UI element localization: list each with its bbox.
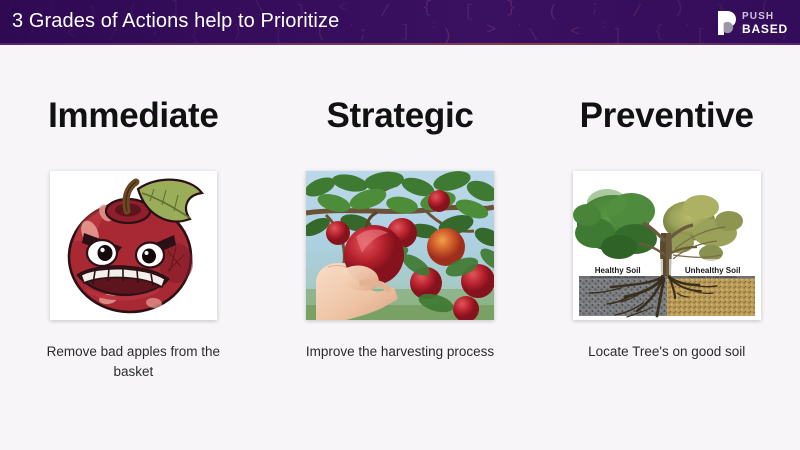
column-preventive: Preventive	[533, 45, 800, 450]
column-strategic: Strategic	[267, 45, 534, 450]
column-title-immediate: Immediate	[48, 98, 218, 133]
svg-text:>: >	[486, 21, 496, 40]
slide: { ) [ < } / ( ; ] { > ) \ [ } ( < ; / ]	[0, 0, 800, 450]
grades-columns: Immediate	[0, 45, 800, 450]
healthy-vs-unhealthy-soil-tree-diagram-icon: Healthy Soil (Not Compacted, Moist, Lots…	[573, 171, 761, 320]
svg-text:;: ;	[590, 0, 600, 18]
svg-text:}: }	[506, 0, 516, 18]
svg-text:/: /	[380, 3, 390, 22]
svg-text:.: .	[684, 16, 691, 30]
svg-text:.: .	[516, 16, 523, 30]
svg-text:): )	[674, 0, 684, 18]
angry-apple-illustration-icon	[50, 171, 217, 320]
svg-text:{: {	[422, 0, 432, 18]
svg-text:<: <	[570, 23, 580, 42]
image-soil-tree-diagram: Healthy Soil (Not Compacted, Moist, Lots…	[573, 171, 761, 320]
svg-text::: :	[430, 18, 437, 32]
soil-label-healthy-subtitle: (Not Compacted, Moist, Lots of Nutrients…	[579, 275, 657, 279]
svg-text:.: .	[348, 16, 355, 30]
soil-label-unhealthy: Unhealthy Soil (Compacted, Dry, Lack of …	[669, 266, 757, 279]
soil-label-healthy: Healthy Soil (Not Compacted, Moist, Lots…	[579, 266, 657, 279]
image-angry-apple-illustration	[50, 171, 217, 320]
logo-line-push: PUSH	[742, 12, 788, 22]
column-title-preventive: Preventive	[580, 98, 754, 133]
svg-text:[: [	[464, 3, 474, 22]
soil-label-unhealthy-subtitle: (Compacted, Dry, Lack of Nutrients)	[669, 275, 757, 279]
svg-text::: :	[600, 18, 607, 32]
image-hand-picking-apple-photo	[306, 171, 494, 320]
caption-preventive: Locate Tree's on good soil	[552, 342, 782, 362]
svg-text:/: /	[632, 3, 642, 22]
svg-text:(: (	[548, 3, 558, 22]
svg-text:]: ]	[400, 23, 410, 42]
soil-label-unhealthy-title: Unhealthy Soil	[669, 266, 757, 275]
push-based-p-mark-icon	[716, 10, 737, 36]
column-immediate: Immediate	[0, 45, 267, 450]
hand-picking-apple-photo-icon	[306, 171, 494, 320]
soil-label-healthy-title: Healthy Soil	[579, 266, 657, 275]
logo-wordmark: PUSH BASED	[742, 12, 788, 35]
svg-text:{: {	[654, 23, 664, 42]
svg-text:;: ;	[358, 25, 368, 44]
svg-text:<: <	[338, 0, 348, 18]
caption-immediate: Remove bad apples from the basket	[28, 342, 238, 381]
header-bar: { ) [ < } / ( ; ] { > ) \ [ } ( < ; / ]	[0, 0, 800, 45]
caption-strategic: Improve the harvesting process	[295, 342, 505, 362]
brand-logo: PUSH BASED	[716, 8, 788, 38]
page-title: 3 Grades of Actions help to Prioritize	[12, 10, 339, 33]
logo-line-based: BASED	[742, 23, 788, 35]
column-title-strategic: Strategic	[326, 98, 473, 133]
